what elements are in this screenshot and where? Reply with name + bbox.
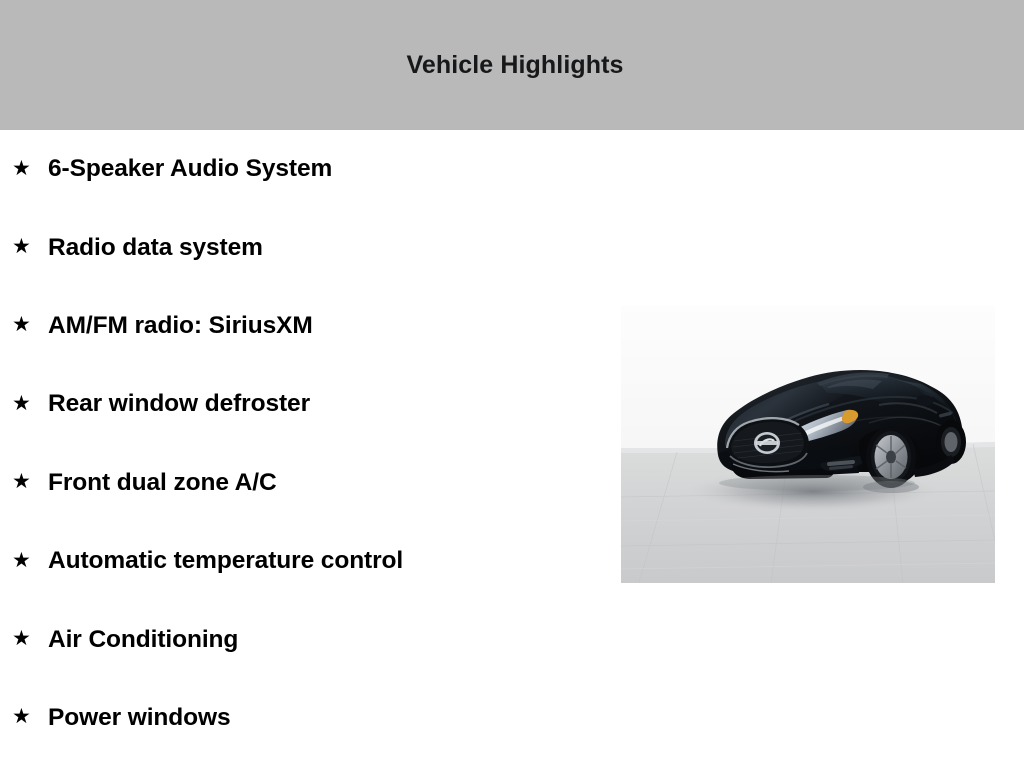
highlight-label: Air Conditioning: [48, 625, 620, 655]
star-icon: ★: [12, 393, 34, 414]
star-icon: ★: [12, 158, 34, 179]
highlight-label: Power windows: [48, 703, 620, 733]
vehicle-highlights-list: ★ 6-Speaker Audio System ★ Radio data sy…: [0, 130, 620, 757]
page-header: Vehicle Highlights: [0, 0, 1024, 130]
highlight-label: Automatic temperature control: [48, 546, 620, 576]
star-icon: ★: [12, 706, 34, 727]
list-item: ★ 6-Speaker Audio System: [0, 130, 620, 208]
star-icon: ★: [12, 236, 34, 257]
highlight-label: 6-Speaker Audio System: [48, 154, 620, 184]
highlight-label: Front dual zone A/C: [48, 468, 620, 498]
list-item: ★ AM/FM radio: SiriusXM: [0, 287, 620, 365]
list-item: ★ Radio data system: [0, 208, 620, 286]
list-item: ★ Power windows: [0, 679, 620, 757]
highlight-label: Radio data system: [48, 233, 620, 263]
list-item: ★ Rear window defroster: [0, 365, 620, 443]
star-icon: ★: [12, 550, 34, 571]
page-title: Vehicle Highlights: [0, 51, 1024, 79]
list-item: ★ Front dual zone A/C: [0, 444, 620, 522]
star-icon: ★: [12, 471, 34, 492]
list-item: ★ Automatic temperature control: [0, 522, 620, 600]
vehicle-photo: [621, 305, 995, 583]
highlight-label: Rear window defroster: [48, 389, 620, 419]
star-icon: ★: [12, 628, 34, 649]
highlight-label: AM/FM radio: SiriusXM: [48, 311, 620, 341]
vehicle-photo-image: [621, 305, 995, 583]
list-item: ★ Air Conditioning: [0, 600, 620, 678]
star-icon: ★: [12, 314, 34, 335]
